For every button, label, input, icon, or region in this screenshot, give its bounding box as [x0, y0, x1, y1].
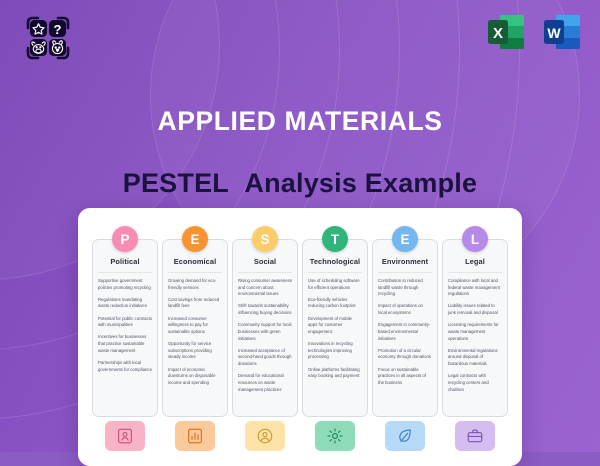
list-item: Eco-friendly vehicles reducing carbon fo… — [308, 297, 362, 310]
column-bullet-list: Use of scheduling software for efficient… — [308, 278, 362, 380]
list-item: Environmental regulations around disposa… — [448, 348, 502, 368]
briefcase-icon — [455, 421, 495, 451]
column-divider — [98, 272, 152, 273]
pestel-column-environment: EEnvironmentContribution to reduced land… — [372, 226, 438, 451]
page-title: PESTEL Analysis Example — [0, 168, 600, 199]
column-badge-technological: T — [322, 226, 348, 252]
list-item: Community support for local businesses w… — [238, 322, 292, 342]
column-title: Technological — [308, 257, 362, 266]
list-item: Legal contracts with recycling centers a… — [448, 373, 502, 393]
column-divider — [378, 272, 432, 273]
svg-text:X: X — [493, 25, 503, 42]
list-item: Incentives for businesses that practice … — [98, 334, 152, 354]
page-title-part2: Analysis Example — [244, 168, 477, 198]
list-item: Development of mobile apps for customer … — [308, 316, 362, 336]
column-badge-social: S — [252, 226, 278, 252]
list-item: Regulations mandating waste reduction in… — [98, 297, 152, 310]
column-bullet-list: Compliance with local and federal waste … — [448, 278, 502, 393]
list-item: Potential for public contracts with muni… — [98, 316, 152, 329]
list-item: Rising consumer awareness and concern ab… — [238, 278, 292, 298]
word-icon[interactable]: W — [540, 10, 584, 54]
list-item: Use of scheduling software for efficient… — [308, 278, 362, 291]
column-badge-environment: E — [392, 226, 418, 252]
column-body: EnvironmentContribution to reduced landf… — [372, 239, 438, 417]
column-bullet-list: Contribution to reduced landfill waste t… — [378, 278, 432, 387]
column-divider — [308, 272, 362, 273]
column-body: TechnologicalUse of scheduling software … — [302, 239, 368, 417]
pestel-columns: PPoliticalSupportive government policies… — [92, 226, 508, 451]
column-title: Political — [98, 257, 152, 266]
column-title: Legal — [448, 257, 502, 266]
list-item: Impact of economic downturns on disposab… — [168, 367, 222, 387]
column-bullet-list: Growing demand for eco-friendly services… — [168, 278, 222, 387]
list-item: Impact of operations on local ecosystems — [378, 303, 432, 316]
list-item: Engagement in community-based environmen… — [378, 322, 432, 342]
svg-text:W: W — [547, 25, 561, 41]
pestel-column-economical: EEconomicalGrowing demand for eco-friend… — [162, 226, 228, 451]
list-item: Compliance with local and federal waste … — [448, 278, 502, 298]
bar-chart-icon — [175, 421, 215, 451]
list-item: Licensing requirements for waste managem… — [448, 322, 502, 342]
pets-grid-logo-icon: ? — [24, 14, 72, 62]
column-title: Environment — [378, 257, 432, 266]
list-item: Increased acceptance of second-hand good… — [238, 348, 292, 368]
column-badge-political: P — [112, 226, 138, 252]
list-item: Partnerships with local governments for … — [98, 360, 152, 373]
pestel-column-legal: LLegalCompliance with local and federal … — [442, 226, 508, 451]
list-item: Online platforms facilitating easy booki… — [308, 367, 362, 380]
pestel-column-social: SSocialRising consumer awareness and con… — [232, 226, 298, 451]
column-body: SocialRising consumer awareness and conc… — [232, 239, 298, 417]
list-item: Increased consumer willingness to pay fo… — [168, 316, 222, 336]
list-item: Opportunity for service subscriptions pr… — [168, 341, 222, 361]
svg-text:?: ? — [54, 22, 62, 37]
pestel-column-technological: TTechnologicalUse of scheduling software… — [302, 226, 368, 451]
column-title: Social — [238, 257, 292, 266]
list-item: Promotion of a circular economy through … — [378, 348, 432, 361]
list-item: Innovations in recycling technologies im… — [308, 341, 362, 361]
gear-icon — [315, 421, 355, 451]
person-badge-icon — [105, 421, 145, 451]
list-item: Supportive government policies promoting… — [98, 278, 152, 291]
office-app-icons: X W — [484, 10, 584, 54]
list-item: Contribution to reduced landfill waste t… — [378, 278, 432, 298]
column-title: Economical — [168, 257, 222, 266]
list-item: Shift towards sustainability influencing… — [238, 303, 292, 316]
pestel-card: PPoliticalSupportive government policies… — [78, 208, 522, 466]
column-divider — [238, 272, 292, 273]
column-body: EconomicalGrowing demand for eco-friendl… — [162, 239, 228, 417]
page-title-part1: PESTEL — [123, 168, 229, 198]
brand-title: APPLIED MATERIALS — [0, 106, 600, 137]
column-divider — [168, 272, 222, 273]
column-bullet-list: Rising consumer awareness and concern ab… — [238, 278, 292, 393]
list-item: Cost savings from reduced landfill fees — [168, 297, 222, 310]
list-item: Growing demand for eco-friendly services — [168, 278, 222, 291]
column-body: LegalCompliance with local and federal w… — [442, 239, 508, 417]
list-item: Demand for educational resources on wast… — [238, 373, 292, 393]
list-item: Liability issues related to junk removal… — [448, 303, 502, 316]
column-badge-economical: E — [182, 226, 208, 252]
pestel-column-political: PPoliticalSupportive government policies… — [92, 226, 158, 451]
list-item: Focus on sustainable practices in all as… — [378, 367, 432, 387]
column-bullet-list: Supportive government policies promoting… — [98, 278, 152, 373]
column-badge-legal: L — [462, 226, 488, 252]
user-circle-icon — [245, 421, 285, 451]
excel-icon[interactable]: X — [484, 10, 528, 54]
column-body: PoliticalSupportive government policies … — [92, 239, 158, 417]
column-divider — [448, 272, 502, 273]
leaf-icon — [385, 421, 425, 451]
